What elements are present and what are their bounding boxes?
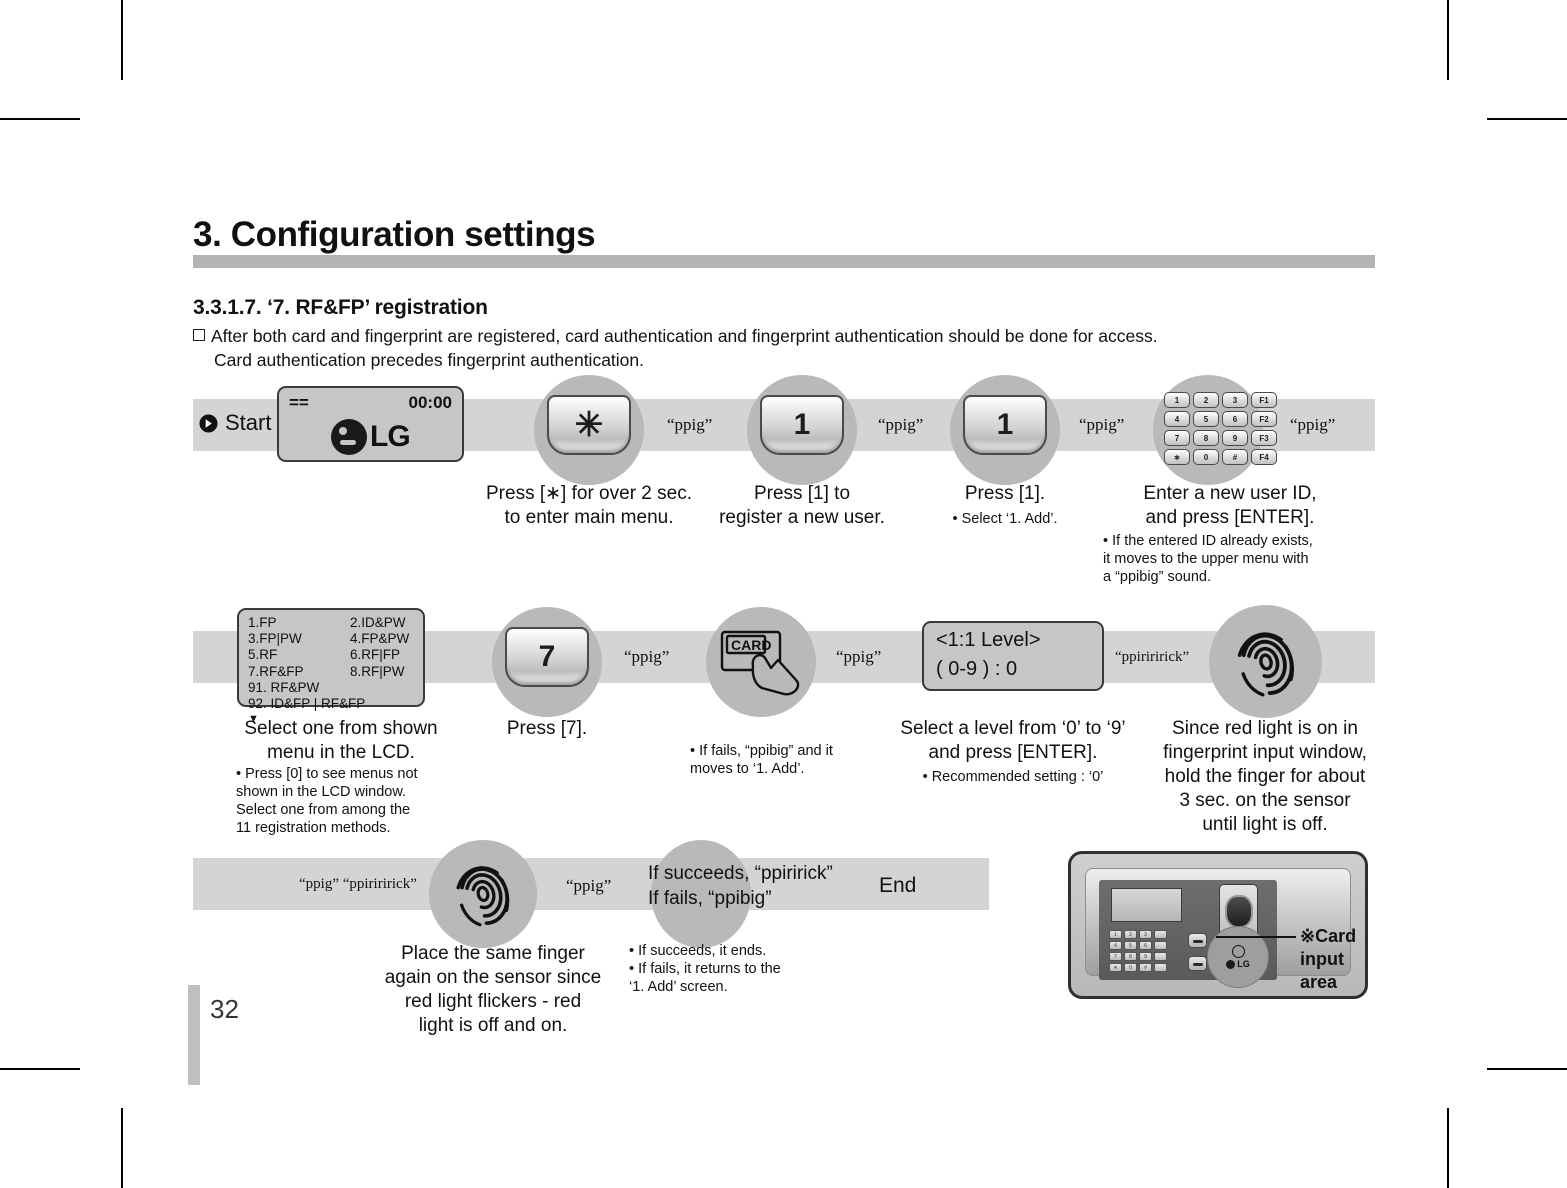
start-arrow-icon — [199, 414, 218, 433]
keypad-grid[interactable]: 1 2 3 F1 4 5 6 F2 7 8 9 F3 ∗ 0 # F4 — [1164, 392, 1277, 465]
caption-press-seven: Press [7]. — [477, 717, 617, 741]
chapter-title: 3. Configuration settings — [193, 215, 595, 255]
keypad-key[interactable]: F4 — [1251, 449, 1277, 465]
end-label: End — [879, 873, 979, 898]
device-key[interactable]: 3 — [1139, 930, 1152, 939]
note-recommended-level: • Recommended setting : ‘0’ — [888, 768, 1138, 786]
svg-text:CARD: CARD — [731, 637, 771, 653]
lcd-registration-menu: 1.FP2.ID&PW 3.FP|PW4.FP&PW 5.RF6.RF|FP 7… — [237, 608, 425, 707]
device-key[interactable] — [1154, 941, 1167, 950]
crop-mark-top-left-h — [0, 118, 80, 120]
caption-press-one-a: Press [1] to register a new user. — [682, 482, 922, 530]
keypad-key[interactable]: # — [1222, 449, 1248, 465]
keypad-key[interactable]: 8 — [1193, 430, 1219, 446]
section-title: 3.3.1.7. ‘7. RF&FP’ registration — [193, 296, 488, 320]
device-key[interactable]: 0 — [1124, 963, 1137, 972]
device-key[interactable]: 7 — [1109, 952, 1122, 961]
intro-line-1: After both card and fingerprint are regi… — [193, 324, 1373, 348]
device-key[interactable] — [1154, 930, 1167, 939]
device-key[interactable] — [1154, 952, 1167, 961]
result-text: If succeeds, “ppiririck” If fails, “ppib… — [648, 861, 868, 911]
note-id-exists: • If the entered ID already exists, it m… — [1103, 532, 1393, 586]
lg-logo-icon — [331, 419, 367, 455]
sound-ppig-ppiriririck: “ppig” “ppiriririck” — [299, 876, 417, 893]
sound-ppig-5: “ppig” — [624, 647, 669, 667]
sound-ppig-3: “ppig” — [1079, 415, 1124, 435]
keypad-key[interactable]: 1 — [1164, 392, 1190, 408]
keypad-key[interactable]: 0 — [1193, 449, 1219, 465]
keypad-key[interactable]: 4 — [1164, 411, 1190, 427]
menu-item: 5.RF — [248, 647, 350, 663]
card-area-leader-line — [1216, 936, 1296, 938]
level-value: ( 0-9 ) : 0 — [936, 658, 1017, 681]
card-tap-icon: CARD — [718, 626, 808, 698]
keypad-key[interactable]: ∗ — [1164, 449, 1190, 465]
menu-row: 91. RF&PW — [248, 680, 409, 696]
lcd-level-screen: <1:1 Level> ( 0-9 ) : 0 — [922, 621, 1104, 691]
lg-logo-text: LG — [1237, 959, 1250, 969]
menu-row: 92. ID&FP | RF&FP — [248, 696, 409, 712]
fingerprint-icon — [452, 856, 514, 932]
caption-select-menu: Select one from shown menu in the LCD. — [231, 717, 451, 765]
menu-row: 7.RF&FP8.RF|PW — [248, 664, 409, 680]
note-press-zero: • Press [0] to see menus not shown in th… — [236, 765, 466, 837]
caption-press-one-b: Press [1]. — [905, 482, 1105, 506]
keypad-key[interactable]: 6 — [1222, 411, 1248, 427]
caption-press-star: Press [∗] for over 2 sec. to enter main … — [469, 482, 709, 530]
lcd-idle-time: 00:00 — [409, 393, 452, 413]
keypad-key[interactable]: 9 — [1222, 430, 1248, 446]
device-key[interactable]: 4 — [1109, 941, 1122, 950]
menu-item: 2.ID&PW — [350, 615, 406, 631]
device-key[interactable]: 2 — [1124, 930, 1137, 939]
page-number: 32 — [210, 994, 239, 1025]
intro-line-2: Card authentication precedes fingerprint… — [193, 348, 1373, 372]
device-oval-button-top[interactable] — [1188, 933, 1207, 948]
keypad-key[interactable]: 7 — [1164, 430, 1190, 446]
sound-ppig-7: “ppig” — [566, 876, 611, 896]
caption-place-same-finger: Place the same finger again on the senso… — [377, 942, 609, 1038]
crop-mark-top-left-v — [121, 0, 123, 80]
rf-wave-icon — [1232, 945, 1245, 958]
keypad-key[interactable]: F3 — [1251, 430, 1277, 446]
note-select-add: • Select ‘1. Add’. — [905, 510, 1105, 528]
sound-ppig-4: “ppig” — [1290, 415, 1335, 435]
crop-mark-bottom-left-h — [0, 1068, 80, 1070]
device-oval-button-bottom[interactable] — [1188, 956, 1207, 971]
menu-row: 3.FP|PW4.FP&PW — [248, 631, 409, 647]
caption-enter-user-id: Enter a new user ID, and press [ENTER]. — [1085, 482, 1375, 530]
keypad-key[interactable]: F1 — [1251, 392, 1277, 408]
crop-mark-bottom-right-h — [1487, 1068, 1567, 1070]
keypad-key[interactable]: F2 — [1251, 411, 1277, 427]
key-one-a[interactable]: 1 — [760, 395, 844, 455]
device-key[interactable]: 9 — [1139, 952, 1152, 961]
note-card-fail: • If fails, “ppibig” and it moves to ‘1.… — [690, 742, 910, 778]
menu-row: 5.RF6.RF|FP — [248, 647, 409, 663]
sound-ppiriririck-1: “ppiriririck” — [1115, 649, 1189, 666]
device-key[interactable]: ∗ — [1109, 963, 1122, 972]
sound-ppig-1: “ppig” — [667, 415, 712, 435]
menu-list: 1.FP2.ID&PW 3.FP|PW4.FP&PW 5.RF6.RF|FP 7… — [248, 615, 409, 726]
page-number-bar — [188, 985, 200, 1085]
bullet-square-icon — [193, 329, 205, 341]
menu-item: 92. ID&FP | RF&FP — [248, 696, 365, 712]
crop-mark-bottom-left-v — [121, 1108, 123, 1188]
menu-item: 7.RF&FP — [248, 664, 350, 680]
key-seven[interactable]: 7 — [505, 627, 589, 687]
crop-mark-top-right-h — [1487, 118, 1567, 120]
caption-select-level: Select a level from ‘0’ to ‘9’ and press… — [888, 717, 1138, 765]
device-fingerprint-window — [1225, 895, 1253, 928]
device-key[interactable]: 1 — [1109, 930, 1122, 939]
lg-logo-text: LG — [370, 420, 410, 454]
key-one-b[interactable]: 1 — [963, 395, 1047, 455]
card-input-area-label: ※Card input area — [1300, 925, 1420, 994]
menu-item: 1.FP — [248, 615, 350, 631]
keypad-key[interactable]: 5 — [1193, 411, 1219, 427]
key-asterisk[interactable]: ✳ — [547, 395, 631, 455]
lcd-idle-brand: LG — [331, 419, 410, 455]
device-brand: LG — [1226, 959, 1250, 969]
keypad-key[interactable]: 2 — [1193, 392, 1219, 408]
menu-item: 3.FP|PW — [248, 631, 350, 647]
device-key[interactable]: 5 — [1124, 941, 1137, 950]
level-title: <1:1 Level> — [936, 629, 1041, 652]
fingerprint-icon — [1233, 622, 1299, 702]
sound-ppig-6: “ppig” — [836, 647, 881, 667]
crop-mark-top-right-v — [1447, 0, 1449, 80]
crop-mark-bottom-right-v — [1447, 1108, 1449, 1188]
menu-item: 91. RF&PW — [248, 680, 319, 696]
start-label: Start — [225, 410, 271, 436]
device-keypad[interactable]: 1 2 3 4 5 6 7 8 9 ∗ 0 # — [1109, 930, 1167, 972]
menu-item: 4.FP&PW — [350, 631, 409, 647]
device-key[interactable]: 6 — [1139, 941, 1152, 950]
sound-ppig-2: “ppig” — [878, 415, 923, 435]
flow-start: Start — [199, 410, 271, 436]
menu-item: 8.RF|PW — [350, 664, 405, 680]
menu-row: 1.FP2.ID&PW — [248, 615, 409, 631]
menu-item: 6.RF|FP — [350, 647, 400, 663]
lcd-idle-left: == — [289, 393, 309, 413]
keypad-key[interactable]: 3 — [1222, 392, 1248, 408]
note-result: • If succeeds, it ends. • If fails, it r… — [629, 942, 869, 996]
lg-logo-icon — [1226, 960, 1235, 969]
intro-block: After both card and fingerprint are regi… — [193, 324, 1373, 372]
device-key[interactable] — [1154, 963, 1167, 972]
manual-page: 3. Configuration settings 3.3.1.7. ‘7. R… — [0, 0, 1567, 1188]
lcd-idle-screen: == 00:00 LG — [277, 386, 464, 462]
caption-hold-finger: Since red light is on in fingerprint inp… — [1145, 717, 1385, 837]
title-rule — [193, 255, 1375, 268]
device-key[interactable]: 8 — [1124, 952, 1137, 961]
intro-text-1: After both card and fingerprint are regi… — [211, 326, 1158, 346]
device-lcd — [1111, 888, 1182, 922]
device-key[interactable]: # — [1139, 963, 1152, 972]
